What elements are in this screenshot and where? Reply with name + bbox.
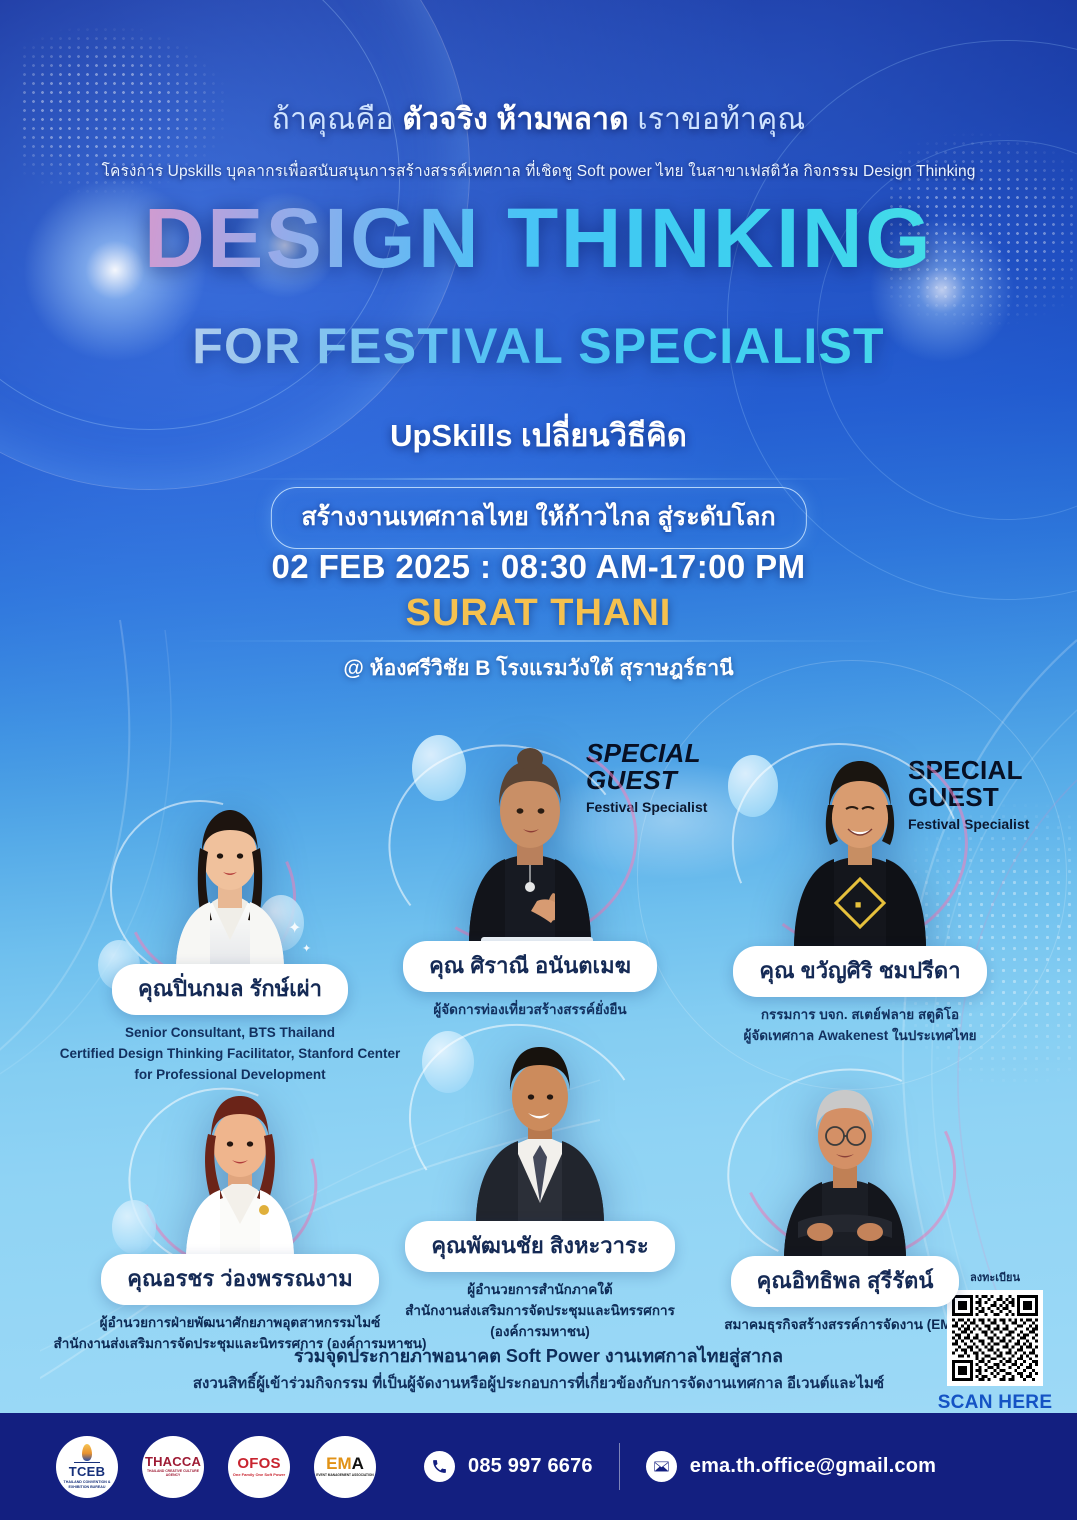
scan-here-label: SCAN HERE bbox=[933, 1392, 1057, 1414]
speaker-name: คุณอรชร ว่องพรรณงาม bbox=[101, 1254, 378, 1305]
logo-ofos-sub: One Family One Soft Power bbox=[233, 1473, 285, 1478]
logo-ofos: OFOS One Family One Soft Power bbox=[228, 1436, 290, 1498]
speaker-card: คุณพัฒนชัย สิงหะวาระ ผู้อำนวยการสำนักภาค… bbox=[380, 1015, 700, 1343]
sparkle-icon: ✦ bbox=[302, 942, 311, 955]
envelope-icon bbox=[646, 1451, 677, 1482]
speaker-name: คุณปิ่นกมล รักษ์เผ่า bbox=[112, 964, 348, 1015]
speaker-name: คุณพัฒนชัย สิงหะวาระ bbox=[405, 1221, 674, 1272]
logo-ema: EMA EVENT MANAGEMENT ASSOCIATION bbox=[314, 1436, 376, 1498]
logo-tceb-name: TCEB bbox=[69, 1465, 106, 1478]
speaker-card: ◆ คุณ ขวัญศิริ ชมปรีดา กรรมการ บจก. สเตย… bbox=[700, 725, 1020, 1047]
speaker-photo: ◆ bbox=[760, 725, 960, 950]
speaker-role-line: ผู้จัดเทศกาล Awakenest ในประเทศไทย bbox=[700, 1026, 1020, 1047]
closing-headline: ร่วมจุดประกายภาพอนาคต Soft Power งานเทศก… bbox=[0, 1341, 1077, 1370]
tagline: ถ้าคุณคือ ตัวจริง ห้ามพลาด เราขอท้าคุณ bbox=[0, 96, 1077, 143]
speaker-role-line: กรรมการ บจก. สเตย์ฟลาย สตูดิโอ bbox=[700, 1005, 1020, 1026]
speaker-photo bbox=[150, 1080, 330, 1260]
speaker-role-line: ผู้อำนวยการสำนักภาคใต้ bbox=[380, 1280, 700, 1301]
speaker-photo bbox=[425, 715, 635, 945]
divider-glow bbox=[229, 478, 849, 480]
flame-icon bbox=[82, 1444, 92, 1461]
speaker-role-line: Certified Design Thinking Facilitator, S… bbox=[40, 1044, 420, 1065]
logo-thacca-name: THACCA bbox=[145, 1455, 201, 1468]
phone-number: 085 997 6676 bbox=[468, 1455, 593, 1478]
contact-phone[interactable]: 085 997 6676 bbox=[424, 1451, 593, 1482]
event-city: SURAT THANI bbox=[0, 592, 1077, 635]
speaker-name: คุณ ศิราณี อนันตเมฆ bbox=[403, 941, 657, 992]
speaker-photo bbox=[440, 1015, 640, 1225]
footer-bar: TCEB THAILAND CONVENTION & EXHIBITION BU… bbox=[0, 1413, 1077, 1520]
logo-ofos-name: OFOS bbox=[237, 1456, 280, 1471]
event-poster: ถ้าคุณคือ ตัวจริง ห้ามพลาด เราขอท้าคุณ โ… bbox=[0, 0, 1077, 1520]
email-address: ema.th.office@gmail.com bbox=[690, 1455, 936, 1478]
speaker-card: ✦ ✦ คุณปิ่นกมล รักษ์เผ่า Senior Consulta… bbox=[40, 790, 420, 1086]
logo-rule bbox=[74, 1462, 100, 1463]
logo-tceb: TCEB THAILAND CONVENTION & EXHIBITION BU… bbox=[56, 1436, 118, 1498]
logo-thacca: THACCA THAILAND CREATIVE CULTURE AGENCY bbox=[142, 1436, 204, 1498]
event-datetime: 02 FEB 2025 : 08:30 AM-17:00 PM bbox=[0, 548, 1077, 586]
page-title: DESIGN THINKING bbox=[0, 190, 1077, 287]
mission-pill: สร้างงานเทศกาลไทย ให้ก้าวไกล สู่ระดับโลก bbox=[270, 487, 806, 549]
phone-icon bbox=[424, 1451, 455, 1482]
tagline-post: เราขอท้าคุณ bbox=[629, 103, 806, 136]
logo-ema-sub: EVENT MANAGEMENT ASSOCIATION bbox=[316, 1474, 373, 1478]
page-subtitle: FOR FESTIVAL SPECIALIST bbox=[0, 317, 1077, 375]
sparkle-icon: ✦ bbox=[288, 918, 301, 938]
closing-disclaimer: สงวนสิทธิ์ผู้เข้าร่วมกิจกรรม ที่เป็นผู้จ… bbox=[0, 1371, 1077, 1395]
divider-glow bbox=[189, 640, 889, 642]
speaker-role: กรรมการ บจก. สเตย์ฟลาย สตูดิโอ ผู้จัดเทศ… bbox=[700, 1005, 1020, 1047]
logo-ema-name: EMA bbox=[326, 1455, 364, 1472]
speaker-role-line: ผู้อำนวยการฝ่ายพัฒนาศักยภาพอุตสาหกรรมไมซ… bbox=[50, 1313, 430, 1334]
tagline-bold: ตัวจริง ห้ามพลาด bbox=[402, 103, 629, 136]
speaker-photo bbox=[140, 790, 320, 970]
speaker-role-line: Senior Consultant, BTS Thailand bbox=[40, 1023, 420, 1044]
logo-thacca-sub: THAILAND CREATIVE CULTURE AGENCY bbox=[142, 1470, 204, 1478]
contact-divider bbox=[619, 1443, 620, 1490]
program-subline: โครงการ Upskills บุคลากรเพื่อสนับสนุนการ… bbox=[0, 158, 1077, 183]
speaker-name: คุณอิทธิพล สุรีรัตน์ bbox=[731, 1256, 960, 1307]
speaker-role: Senior Consultant, BTS Thailand Certifie… bbox=[40, 1023, 420, 1086]
footer-contacts: 085 997 6676 ema.th.office@gmail.com bbox=[424, 1443, 936, 1490]
speaker-card: คุณอิทธิพล สุรีรัตน์ สมาคมธุรกิจสร้างสรร… bbox=[690, 1060, 1000, 1336]
contact-email[interactable]: ema.th.office@gmail.com bbox=[646, 1451, 936, 1482]
speaker-role-line: สำนักงานส่งเสริมการจัดประชุมและนิทรรศการ… bbox=[380, 1301, 700, 1343]
logo-tceb-sub: THAILAND CONVENTION & EXHIBITION BUREAU bbox=[56, 1480, 118, 1488]
tagline-pre: ถ้าคุณคือ bbox=[272, 103, 403, 136]
speaker-card: คุณอรชร ว่องพรรณงาม ผู้อำนวยการฝ่ายพัฒนา… bbox=[50, 1080, 430, 1355]
speaker-role: ผู้อำนวยการสำนักภาคใต้ สำนักงานส่งเสริมก… bbox=[380, 1280, 700, 1343]
event-venue: @ ห้องศรีวิชัย B โรงแรมวังใต้ สุราษฎร์ธา… bbox=[0, 652, 1077, 685]
partner-logos: TCEB THAILAND CONVENTION & EXHIBITION BU… bbox=[56, 1436, 376, 1498]
speaker-photo bbox=[750, 1060, 940, 1260]
upskills-slogan: UpSkills เปลี่ยนวิธีคิด bbox=[0, 410, 1077, 460]
speaker-card: คุณ ศิราณี อนันตเมฆ ผู้จัดการท่องเที่ยวส… bbox=[370, 715, 690, 1021]
speaker-name: คุณ ขวัญศิริ ชมปรีดา bbox=[733, 946, 986, 997]
